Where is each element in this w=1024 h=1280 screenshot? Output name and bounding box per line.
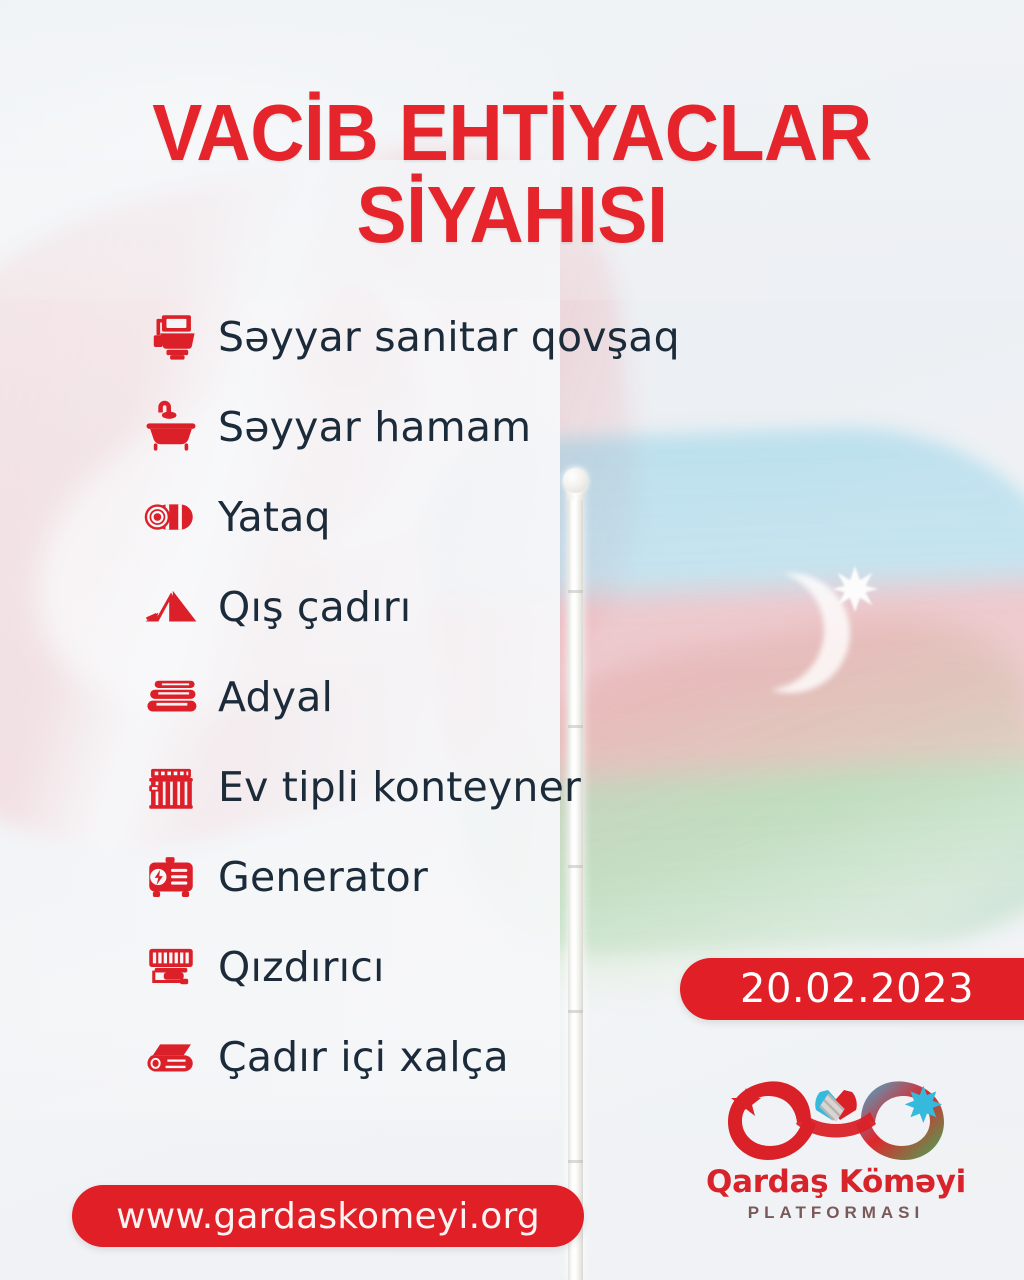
tent-icon: [140, 576, 202, 638]
list-item: Ev tipli konteyner: [140, 742, 780, 832]
page-title: VACİB EHTİYACLAR SİYAHISI: [31, 94, 994, 255]
rolled-mattress-icon: [140, 486, 202, 548]
logo-subtitle: PLATFORMASI: [706, 1203, 966, 1223]
title-line-1: VACİB EHTİYACLAR: [31, 94, 994, 172]
portable-toilet-icon: [140, 306, 202, 368]
heater-icon: [140, 936, 202, 998]
poster-canvas: VACİB EHTİYACLAR SİYAHISI Səyyar sanitar…: [0, 0, 1024, 1280]
infinity-handshake-flags-icon: [716, 1072, 956, 1168]
logo-name: Qardaş Köməyi: [706, 1164, 966, 1200]
list-item: Çadır içi xalça: [140, 1012, 780, 1102]
list-item: Səyyar sanitar qovşaq: [140, 292, 780, 382]
azerbaijan-eight-point-star-icon: [832, 566, 878, 612]
list-item-label: Generator: [218, 853, 428, 901]
list-item: Yataq: [140, 472, 780, 562]
website-badge-label: www.gardaskomeyi.org: [116, 1196, 540, 1237]
date-badge: 20.02.2023: [680, 958, 1024, 1020]
list-item: Adyal: [140, 652, 780, 742]
container-house-icon: [140, 756, 202, 818]
list-item-label: Yataq: [218, 493, 331, 541]
list-item: Səyyar hamam: [140, 382, 780, 472]
list-item: Qış çadırı: [140, 562, 780, 652]
list-item-label: Səyyar hamam: [218, 403, 531, 451]
title-line-2: SİYAHISI: [31, 176, 994, 254]
list-item-label: Adyal: [218, 673, 333, 721]
bathtub-icon: [140, 396, 202, 458]
list-item-label: Çadır içi xalça: [218, 1033, 509, 1081]
list-item-label: Səyyar sanitar qovşaq: [218, 313, 680, 361]
list-item-label: Qış çadırı: [218, 583, 411, 631]
rolled-carpet-icon: [140, 1026, 202, 1088]
folded-blanket-icon: [140, 666, 202, 728]
website-badge[interactable]: www.gardaskomeyi.org: [72, 1185, 584, 1247]
organization-logo: Qardaş Köməyi PLATFORMASI: [706, 1072, 966, 1223]
date-badge-label: 20.02.2023: [740, 966, 974, 1012]
generator-icon: [140, 846, 202, 908]
list-item-label: Qızdırıcı: [218, 943, 385, 991]
list-item: Generator: [140, 832, 780, 922]
list-item-label: Ev tipli konteyner: [218, 763, 581, 811]
